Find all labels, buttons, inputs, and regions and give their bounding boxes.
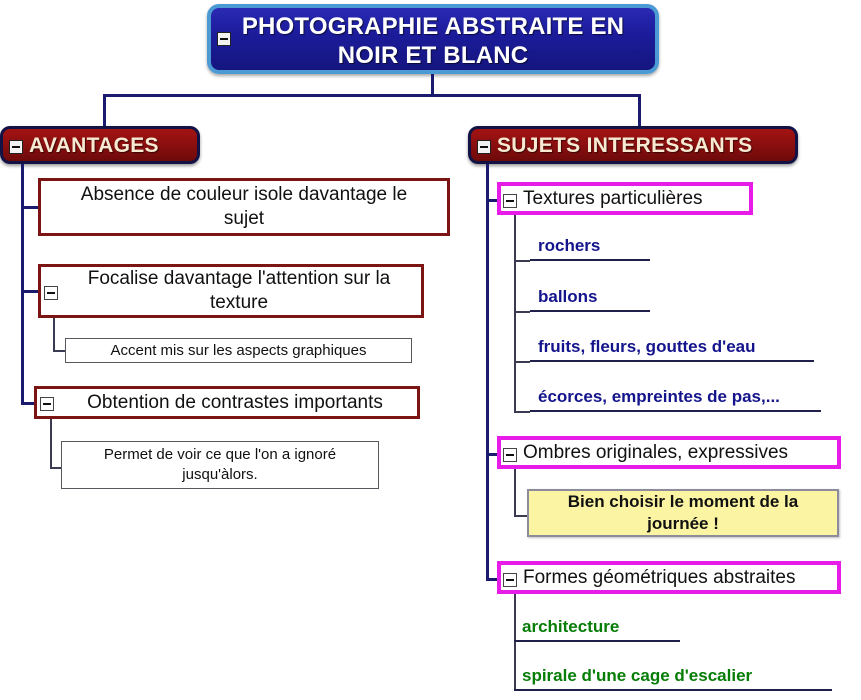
branch-header-sujets[interactable]: SUJETS INTERESSANTS <box>468 126 798 164</box>
node-bien-choisir-note-label: Bien choisir le moment de la journée ! <box>529 491 837 535</box>
node-bien-choisir-note[interactable]: Bien choisir le moment de la journée ! <box>527 489 839 537</box>
connector-ombres-trunk <box>514 469 516 517</box>
node-ecorces-label: écorces, empreintes de pas,... <box>538 387 780 407</box>
node-absence-couleur[interactable]: Absence de couleur isole davantage le su… <box>38 178 450 236</box>
node-ombres-originales-label: Ombres originales, expressives <box>523 441 788 465</box>
connector-arm-ecorces <box>514 411 530 413</box>
node-architecture[interactable]: architecture <box>514 618 680 642</box>
root-node[interactable]: PHOTOGRAPHIE ABSTRAITE EN NOIR ET BLANC <box>207 4 659 74</box>
node-fruits-fleurs-label: fruits, fleurs, gouttes d'eau <box>538 337 756 357</box>
root-title: PHOTOGRAPHIE ABSTRAITE EN NOIR ET BLANC <box>211 12 655 70</box>
node-accent-graphique-label: Accent mis sur les aspects graphiques <box>66 341 411 361</box>
node-ballons-label: ballons <box>538 287 598 307</box>
textures-collapse-toggle-icon[interactable] <box>503 194 517 208</box>
mindmap-canvas: PHOTOGRAPHIE ABSTRAITE EN NOIR ET BLANC … <box>0 0 861 700</box>
connector-to-avantages <box>103 94 106 128</box>
connector-root-bus <box>103 94 641 97</box>
connector-textures-trunk <box>514 215 516 412</box>
node-spirale-cage[interactable]: spirale d'une cage d'escalier <box>514 667 832 691</box>
node-spirale-cage-label: spirale d'une cage d'escalier <box>522 666 752 686</box>
avantages-collapse-toggle-icon[interactable] <box>9 140 23 154</box>
connector-sujets-trunk <box>486 164 489 581</box>
node-textures-particulieres[interactable]: Textures particulières <box>497 182 753 215</box>
branch-header-avantages[interactable]: AVANTAGES <box>0 126 200 164</box>
connector-root-stem <box>431 74 434 96</box>
node-ecorces[interactable]: écorces, empreintes de pas,... <box>530 388 821 412</box>
node-fruits-fleurs[interactable]: fruits, fleurs, gouttes d'eau <box>530 338 814 362</box>
node-ballons[interactable]: ballons <box>530 288 650 312</box>
node-permet-de-voir-label: Permet de voir ce que l'on a ignoré jusq… <box>62 445 378 485</box>
ombres-collapse-toggle-icon[interactable] <box>503 448 517 462</box>
node-focalise-attention[interactable]: Focalise davantage l'attention sur la te… <box>38 264 424 318</box>
sujets-collapse-toggle-icon[interactable] <box>477 140 491 154</box>
node-formes-geometriques-label: Formes géométriques abstraites <box>523 566 795 590</box>
node-rochers[interactable]: rochers <box>530 237 650 261</box>
node-obtention-contrastes-label: Obtention de contrastes importants <box>37 391 417 415</box>
formes-collapse-toggle-icon[interactable] <box>503 573 517 587</box>
node-formes-geometriques[interactable]: Formes géométriques abstraites <box>497 561 841 594</box>
connector-obtention-trunk <box>50 419 52 469</box>
connector-arm-bien-choisir <box>514 515 528 517</box>
connector-focalise-trunk <box>53 318 55 352</box>
node-permet-de-voir[interactable]: Permet de voir ce que l'on a ignoré jusq… <box>61 441 379 489</box>
node-obtention-contrastes[interactable]: Obtention de contrastes importants <box>34 386 420 419</box>
connector-arm-rochers <box>514 260 530 262</box>
connector-to-sujets <box>638 94 641 128</box>
node-textures-particulieres-label: Textures particulières <box>523 187 703 211</box>
branch-header-sujets-label: SUJETS INTERESSANTS <box>497 133 752 159</box>
connector-arm-fruits <box>514 361 530 363</box>
node-ombres-originales[interactable]: Ombres originales, expressives <box>497 436 841 469</box>
connector-avantages-trunk <box>21 164 24 404</box>
connector-arm-ballons <box>514 311 530 313</box>
branch-header-avantages-label: AVANTAGES <box>29 133 159 159</box>
node-focalise-attention-label: Focalise davantage l'attention sur la te… <box>41 267 421 315</box>
node-rochers-label: rochers <box>538 236 600 256</box>
node-absence-couleur-label: Absence de couleur isole davantage le su… <box>41 183 447 231</box>
node-architecture-label: architecture <box>522 617 619 637</box>
node-accent-graphique[interactable]: Accent mis sur les aspects graphiques <box>65 338 412 363</box>
